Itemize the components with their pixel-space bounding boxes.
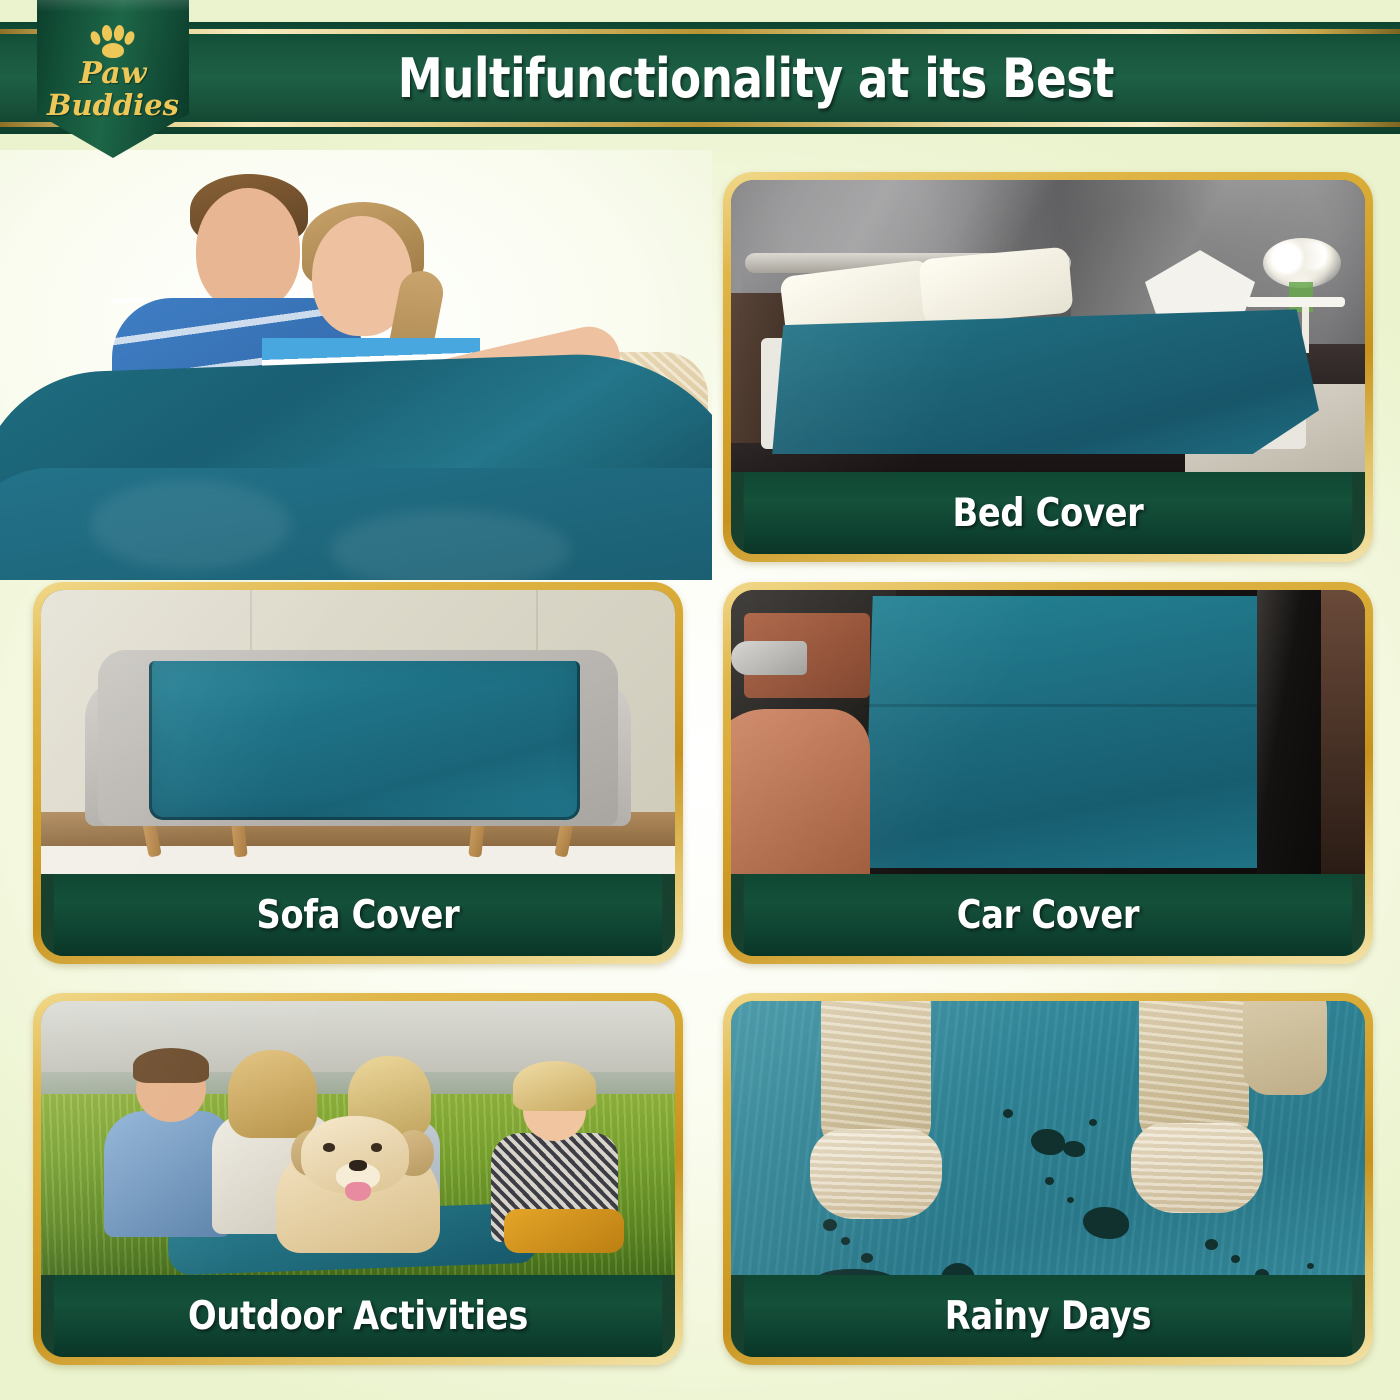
panel-outdoor-activities[interactable]: Outdoor Activities	[33, 993, 683, 1365]
brand-name-line1: Paw	[37, 56, 189, 91]
caption-rainy-days: Rainy Days	[744, 1275, 1353, 1357]
caption-bed-cover: Bed Cover	[744, 472, 1353, 554]
brand-name-line2: Buddies	[37, 88, 189, 122]
product-infographic-poster: Multifunctionality at its Best Paw Buddi…	[0, 0, 1400, 1400]
page-title: Multifunctionality at its Best	[49, 22, 1351, 134]
panel-car-cover[interactable]: Car Cover	[723, 582, 1373, 964]
caption-car-cover: Car Cover	[744, 874, 1353, 956]
header-banner: Multifunctionality at its Best	[0, 22, 1400, 134]
caption-sofa-cover: Sofa Cover	[54, 874, 663, 956]
photo-bed-cover	[731, 180, 1365, 472]
photo-outdoor-activities	[41, 1001, 675, 1275]
hero-photo-couple-blanket	[0, 150, 712, 580]
photo-car-cover	[731, 590, 1365, 874]
photo-rainy-days-muddy-paws	[731, 1001, 1365, 1275]
photo-sofa-cover	[41, 590, 675, 874]
panel-bed-cover[interactable]: Bed Cover	[723, 172, 1373, 562]
paw-print-icon	[87, 24, 139, 58]
caption-outdoor-activities: Outdoor Activities	[54, 1275, 663, 1357]
panel-sofa-cover[interactable]: Sofa Cover	[33, 582, 683, 964]
panel-rainy-days[interactable]: Rainy Days	[723, 993, 1373, 1365]
brand-logo-pennant: Paw Buddies	[37, 0, 189, 158]
